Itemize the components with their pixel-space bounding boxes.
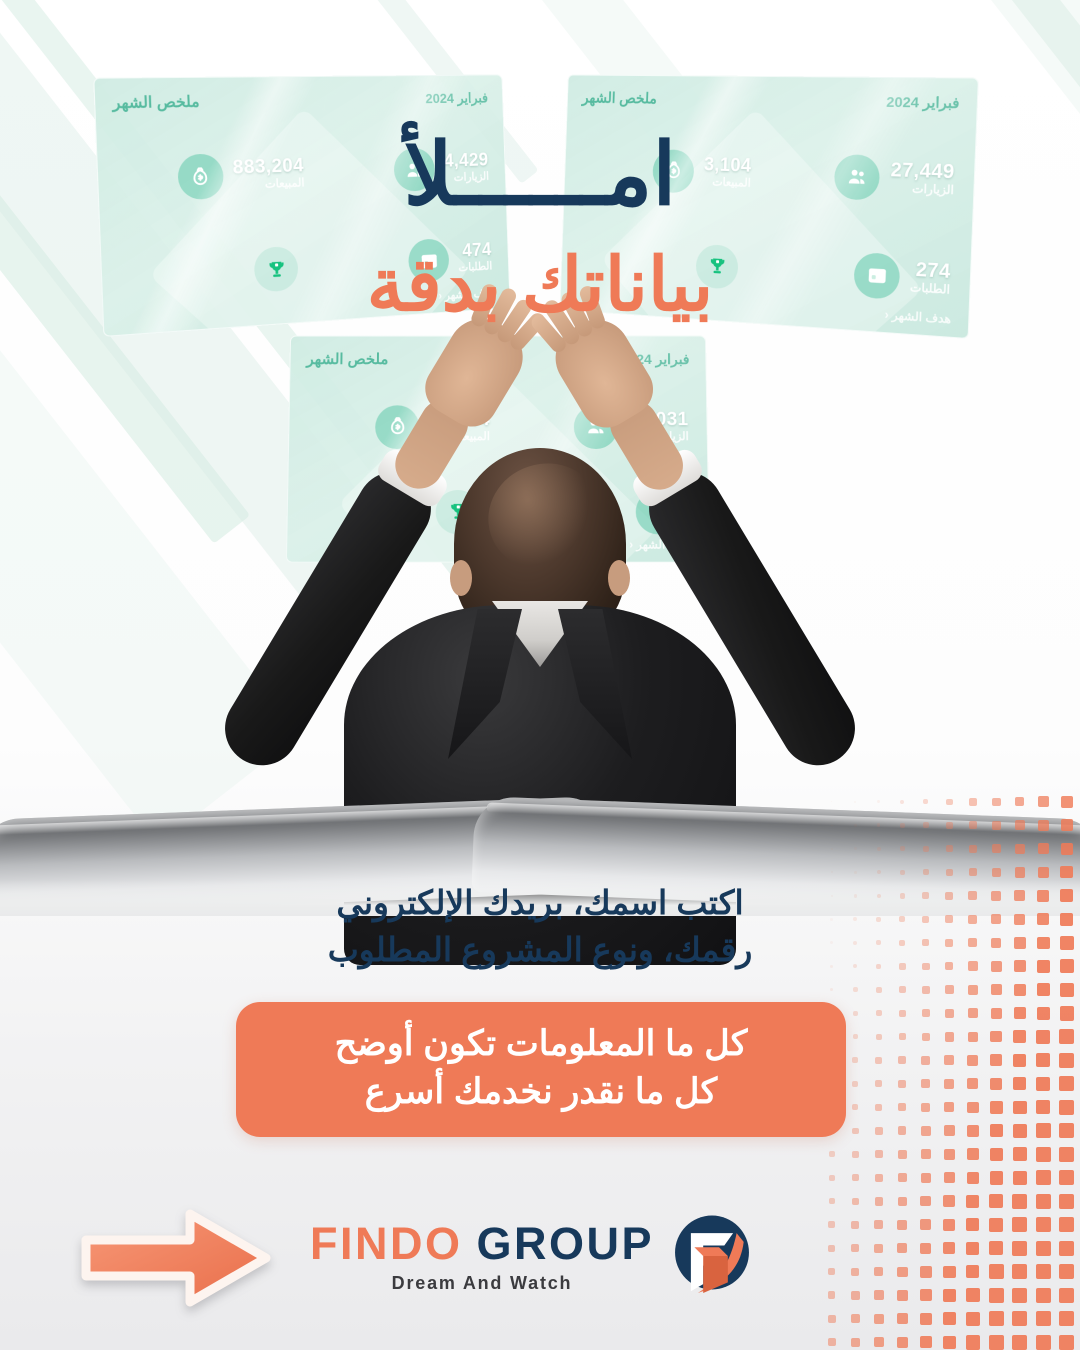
subcopy-block: اكتب اسمك، بريدك الإلكتروني رقمك، ونوع ا… [0,880,1080,974]
kpi-card: 13,031 الزيارات [502,388,693,466]
dashboard-date: فبراير 2024 [425,89,488,106]
dashboard-header-right: فبراير 2024 ملخص الشهر [582,89,960,112]
dashboard-footer-link-center[interactable]: هدف الشهر ‹ [629,537,693,551]
kpi-value: 13,031 [628,409,689,431]
headline-line-2: بياناتك بدقة [0,246,1080,324]
headline-block: امــــــلأ بياناتك بدقة [0,132,1080,323]
logo-name-primary: FINDO [310,1218,463,1270]
kpi-label: الزيارات [628,431,689,444]
dashboard-title: ملخص الشهر [306,350,388,368]
dashboard-date: فبراير 2024 [621,351,690,368]
logo-wordmark: FINDO GROUP Dream And Watch [310,1218,654,1294]
findo-logo-mark-icon [668,1212,756,1300]
subcopy-line-1: اكتب اسمك، بريدك الإلكتروني [0,880,1080,927]
dashboard-screen-center: فبراير 2024 ملخص الشهر 13,031 الزيارات 8… [286,336,710,563]
poster-canvas: فبراير 2024 ملخص الشهر 4,429 الزيارات 88… [0,0,1080,1350]
logo-tagline: Dream And Watch [310,1273,654,1294]
cta-line-1: كل ما المعلومات تكون أوضح [262,1020,820,1068]
logo-name-secondary: GROUP [477,1218,655,1270]
dashboard-header-left: فبراير 2024 ملخص الشهر [112,89,488,112]
trophy-icon [436,489,480,533]
findo-group-logo[interactable]: FINDO GROUP Dream And Watch [310,1212,756,1300]
subcopy-line-2: رقمك، ونوع المشروع المطلوب [0,927,1080,974]
kpi-value: 80,044 [430,409,490,431]
kpi-card: 80,044 المبيعات [303,388,494,466]
dashboard-header-center: فبراير 2024 ملخص الشهر [306,350,689,368]
headline-line-1: امــــــلأ [0,132,1080,220]
dashboard-title: ملخص الشهر [582,89,657,107]
orange-marker [489,336,507,347]
kpi-label: المبيعات [430,431,491,444]
cta-line-2: كل ما نقدر نخدمك أسرع [262,1068,820,1116]
kpi-card [301,472,494,552]
money-bag-icon [375,405,419,449]
dashboard-kpi-grid-center: 13,031 الزيارات 80,044 المبيعات [301,388,695,552]
swipe-right-arrow-icon[interactable] [78,1206,274,1310]
dashboard-title: ملخص الشهر [112,92,200,112]
cta-banner[interactable]: كل ما المعلومات تكون أوضح كل ما نقدر نخد… [236,1002,846,1137]
month-goal-link-label: هدف الشهر ‹ [629,537,693,551]
dashboard-date: فبراير 2024 [886,93,960,112]
users-icon [574,405,618,449]
calendar-icon [635,489,680,533]
